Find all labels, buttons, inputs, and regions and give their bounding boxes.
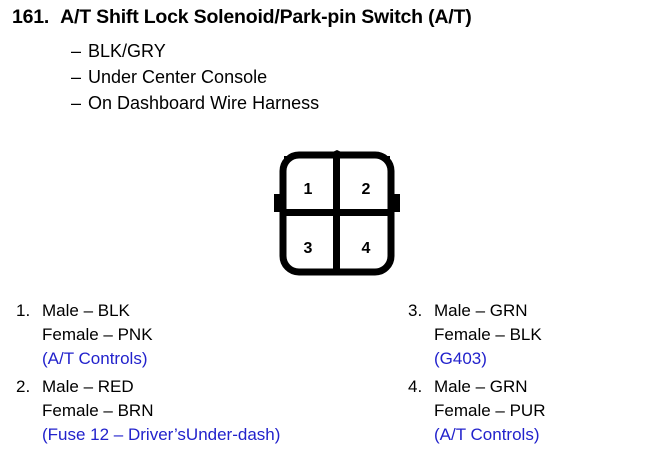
pin-male-wire: Male – RED xyxy=(42,375,316,399)
pin-entry-marker: 4. xyxy=(408,375,434,447)
pin-entry-lines: Male – RED Female – BRN (Fuse 12 – Drive… xyxy=(42,375,316,447)
pin-reference-link[interactable]: (A/T Controls) xyxy=(434,423,646,447)
pin-entry-lines: Male – BLK Female – PNK (A/T Controls) xyxy=(42,299,316,371)
pin-entry-marker: 3. xyxy=(408,299,434,371)
pin-reference-link[interactable]: (A/T Controls) xyxy=(42,347,316,371)
page-title-text: A/T Shift Lock Solenoid/Park-pin Switch … xyxy=(60,6,471,29)
descriptor-item: – BLK/GRY xyxy=(71,38,521,64)
connector-pin-4-label: 4 xyxy=(362,240,371,257)
pin-female-wire: Female – BRN xyxy=(42,399,316,423)
connector-pin-2-label: 2 xyxy=(362,181,371,198)
pin-entry-lines: Male – GRN Female – PUR (A/T Controls) xyxy=(434,375,646,447)
pin-entry-marker: 1. xyxy=(16,299,42,371)
page-title: 161. A/T Shift Lock Solenoid/Park-pin Sw… xyxy=(12,6,646,29)
descriptor-item-label: Under Center Console xyxy=(88,64,267,90)
connector-pin-1-label: 1 xyxy=(304,181,313,198)
descriptor-item-label: BLK/GRY xyxy=(88,38,166,64)
connector-divider-vertical xyxy=(333,155,340,272)
pin-female-wire: Female – PNK xyxy=(42,323,316,347)
dash-bullet-icon: – xyxy=(71,64,88,90)
dash-bullet-icon: – xyxy=(71,38,88,64)
pin-entry: 3. Male – GRN Female – BLK (G403) xyxy=(408,299,646,371)
connector-pin-3-label: 3 xyxy=(304,240,313,257)
pin-female-wire: Female – BLK xyxy=(434,323,646,347)
pin-male-wire: Male – GRN xyxy=(434,299,646,323)
pin-reference-link[interactable]: (Fuse 12 – Driver’sUnder-dash) xyxy=(42,423,316,447)
connector-diagram: 1 2 3 4 xyxy=(262,148,412,278)
descriptor-item-label: On Dashboard Wire Harness xyxy=(88,90,319,116)
pin-list-left: 1. Male – BLK Female – PNK (A/T Controls… xyxy=(16,299,316,451)
pin-entry-lines: Male – GRN Female – BLK (G403) xyxy=(434,299,646,371)
descriptor-list: – BLK/GRY – Under Center Console – On Da… xyxy=(71,38,521,116)
dash-bullet-icon: – xyxy=(71,90,88,116)
pin-male-wire: Male – BLK xyxy=(42,299,316,323)
connector-svg: 1 2 3 4 xyxy=(262,148,412,278)
pin-entry-marker: 2. xyxy=(16,375,42,447)
pin-entry: 4. Male – GRN Female – PUR (A/T Controls… xyxy=(408,375,646,447)
descriptor-item: – Under Center Console xyxy=(71,64,521,90)
pin-female-wire: Female – PUR xyxy=(434,399,646,423)
pin-male-wire: Male – GRN xyxy=(434,375,646,399)
pin-entry: 1. Male – BLK Female – PNK (A/T Controls… xyxy=(16,299,316,371)
descriptor-item: – On Dashboard Wire Harness xyxy=(71,90,521,116)
pin-list-right: 3. Male – GRN Female – BLK (G403) 4. Mal… xyxy=(408,299,646,451)
pin-reference-link[interactable]: (G403) xyxy=(434,347,646,371)
page-title-number: 161. xyxy=(12,6,49,29)
pin-entry: 2. Male – RED Female – BRN (Fuse 12 – Dr… xyxy=(16,375,316,447)
